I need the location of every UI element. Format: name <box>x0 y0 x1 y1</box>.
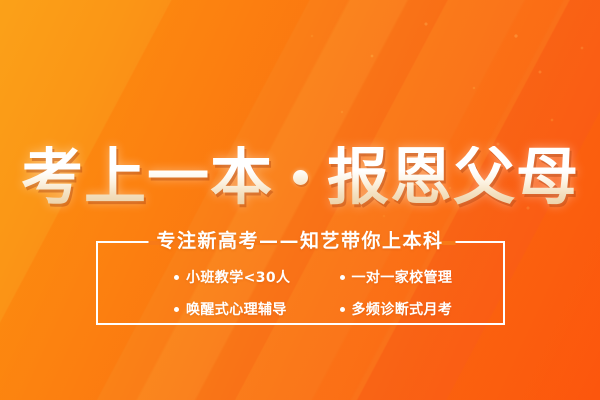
promo-banner: 考上一本 报恩父母 专注新高考——知艺带你上本科 小班教学<30人 一对一家校管… <box>0 0 600 400</box>
feature-item: 小班教学<30人 <box>174 262 340 292</box>
feature-label: 唤醒式心理辅导 <box>186 299 287 319</box>
feature-label: 小班教学<30人 <box>186 267 290 287</box>
dot-separator-icon <box>273 170 327 185</box>
headline-right-text: 报恩父母 <box>327 146 579 208</box>
feature-item: 唤醒式心理辅导 <box>174 294 340 324</box>
bullet-icon <box>174 307 179 312</box>
feature-item: 一对一家校管理 <box>340 262 506 292</box>
bullet-icon <box>340 307 345 312</box>
feature-item: 多频诊断式月考 <box>340 294 506 324</box>
subtitle-frame-gap <box>148 241 455 245</box>
bullet-icon <box>340 275 345 280</box>
feature-label: 多频诊断式月考 <box>352 299 453 319</box>
headline: 考上一本 报恩父母 <box>0 139 600 215</box>
bullet-icon <box>174 275 179 280</box>
dot-separator-glyph <box>293 170 308 185</box>
feature-label: 一对一家校管理 <box>352 267 453 287</box>
headline-left-text: 考上一本 <box>21 146 273 208</box>
feature-list: 小班教学<30人 一对一家校管理 唤醒式心理辅导 多频诊断式月考 <box>96 262 505 324</box>
